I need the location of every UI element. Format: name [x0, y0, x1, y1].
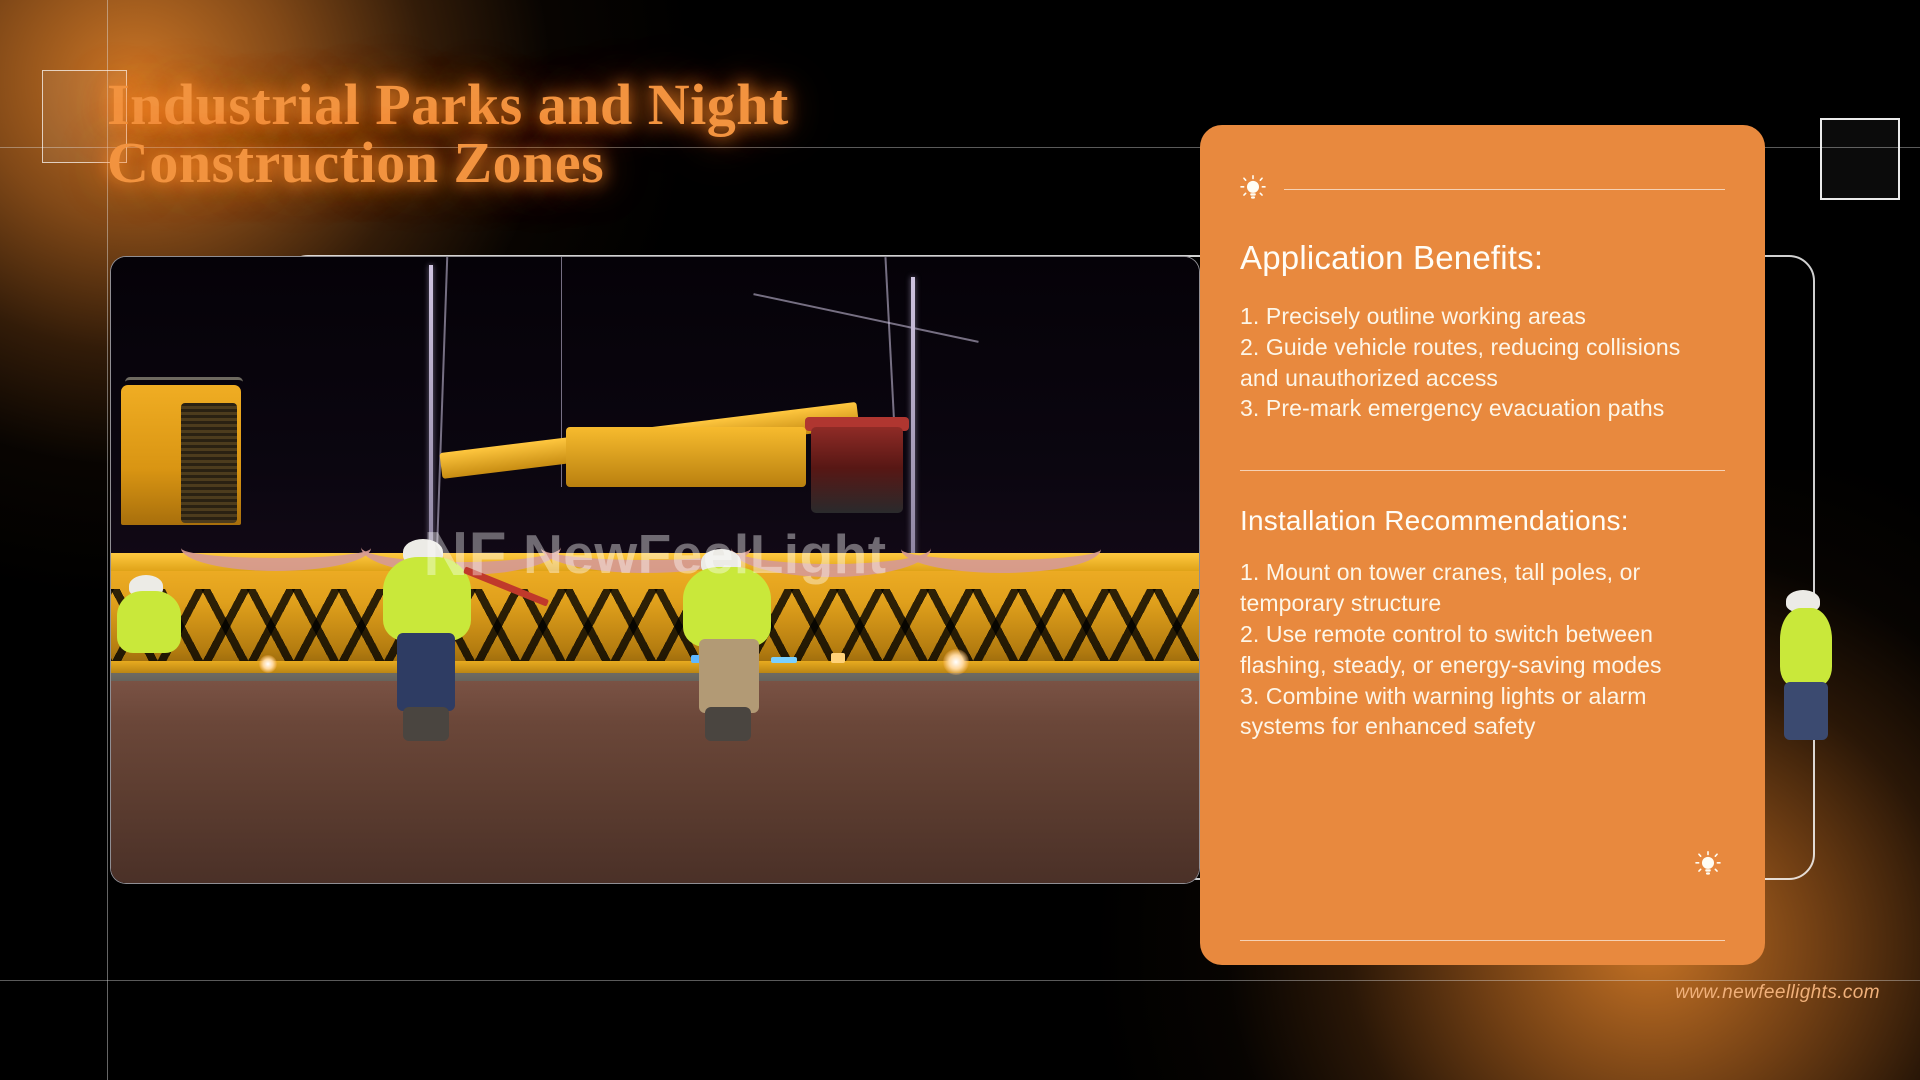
- lightbulb-icon: [1240, 175, 1266, 203]
- list-item: 2. Guide vehicle routes, reducing collis…: [1240, 332, 1725, 394]
- website-url[interactable]: www.newfeellights.com: [1675, 982, 1880, 1004]
- section-heading-installation: Installation Recommendations:: [1240, 505, 1725, 537]
- photo-worker-boots: [403, 707, 449, 741]
- list-item: 3. Combine with warning lights or alarm …: [1240, 681, 1725, 743]
- list-item: 1. Precisely outline working areas: [1240, 301, 1725, 332]
- guide-line-horizontal-bottom: [0, 980, 1920, 981]
- photo-hose: [181, 525, 371, 571]
- panel-middle-divider: [1240, 470, 1725, 471]
- photo-worker-vest: [1780, 608, 1832, 686]
- panel-top-divider: [1284, 189, 1725, 190]
- panel-bottom-divider: [1240, 940, 1725, 941]
- photo-boom-body: [566, 427, 806, 487]
- lightbulb-icon: [1695, 851, 1721, 879]
- installation-list: 1. Mount on tower cranes, tall poles, or…: [1240, 557, 1725, 742]
- photo-city-light: [831, 653, 845, 663]
- photo-generator: [811, 427, 903, 513]
- photo-roadbed: [111, 681, 1200, 884]
- page-title: Industrial Parks and Night Construction …: [107, 76, 1067, 192]
- photo-vehicle-headlamp: [943, 649, 969, 675]
- photo-worker-legs: [699, 639, 759, 713]
- panel-header-row: [1240, 175, 1725, 203]
- list-item: 3. Pre-mark emergency evacuation paths: [1240, 393, 1725, 424]
- photo-worker-vest: [383, 557, 471, 641]
- photo-city-light: [771, 657, 797, 663]
- decorative-square-right: [1820, 118, 1900, 200]
- benefits-list: 1. Precisely outline working areas 2. Gu…: [1240, 301, 1725, 424]
- photo-machine-grill: [181, 403, 237, 523]
- list-item: 2. Use remote control to switch between …: [1240, 619, 1725, 681]
- construction-photo: NF NewFeelLight: [110, 256, 1200, 884]
- photo-worker-vest: [117, 591, 181, 653]
- photo-worker-legs: [397, 633, 455, 711]
- photo-worker-legs: [1784, 682, 1828, 740]
- info-panel: Application Benefits: 1. Precisely outli…: [1200, 125, 1765, 965]
- photo-worker-boots: [705, 707, 751, 741]
- slide-canvas: Industrial Parks and Night Construction …: [0, 0, 1920, 1080]
- photo-spark: [259, 655, 277, 673]
- photo-worker-right: [1780, 590, 1832, 740]
- photo-hose: [901, 525, 1101, 573]
- section-heading-benefits: Application Benefits:: [1240, 239, 1725, 277]
- photo-worker-vest: [683, 567, 771, 647]
- list-item: 1. Mount on tower cranes, tall poles, or…: [1240, 557, 1725, 619]
